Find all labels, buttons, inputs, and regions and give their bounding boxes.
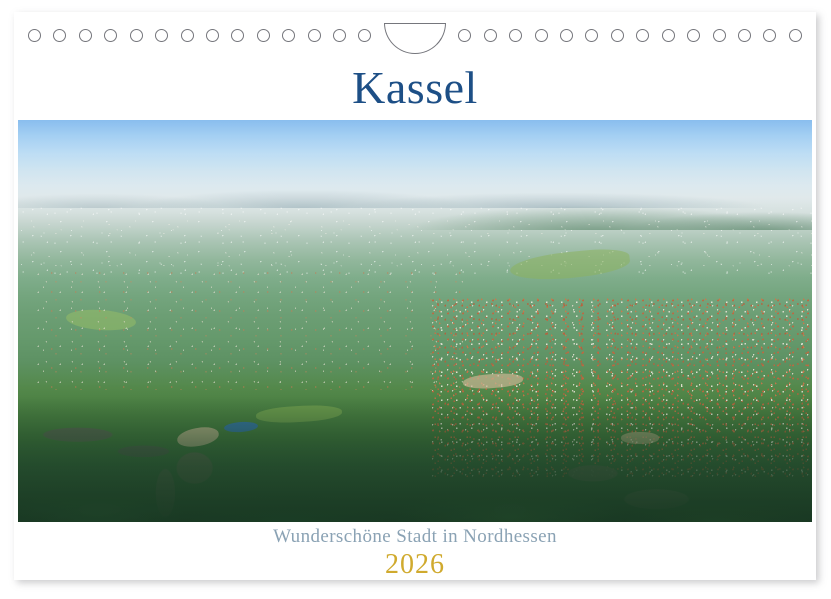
punch-hole-icon — [79, 29, 92, 42]
punch-hole-icon — [738, 29, 751, 42]
punch-hole-icon — [509, 29, 522, 42]
punch-hole-icon — [181, 29, 194, 42]
punch-hole-icon — [308, 29, 321, 42]
punch-hole-icon — [155, 29, 168, 42]
punch-hole-row — [14, 12, 816, 58]
cover-photo-image — [18, 120, 812, 522]
punch-hole-icon — [333, 29, 346, 42]
cover-photo — [18, 120, 812, 522]
punch-hole-icon — [257, 29, 270, 42]
calendar-cover-page: Kassel — [0, 0, 831, 599]
punch-hole-icon — [789, 29, 802, 42]
punch-hole-icon — [687, 29, 700, 42]
punch-hole-icon — [458, 29, 471, 42]
calendar-subtitle: Wunderschöne Stadt in Nordhessen — [273, 527, 557, 547]
punch-hole-icon — [763, 29, 776, 42]
punch-hole-icon — [53, 29, 66, 42]
punch-hole-icon — [206, 29, 219, 42]
punch-hole-icon — [611, 29, 624, 42]
calendar-card: Kassel — [14, 12, 816, 580]
punch-hole-icon — [28, 29, 41, 42]
punch-hole-icon — [104, 29, 117, 42]
calendar-title: Kassel — [352, 65, 478, 111]
caption-band: Wunderschöne Stadt in Nordhessen 2026 — [14, 522, 816, 580]
forest-belt — [18, 396, 812, 522]
punch-hole-icon — [662, 29, 675, 42]
hang-tab-semicircle-icon — [384, 23, 446, 54]
hazy-sprawl — [18, 206, 812, 276]
title-band: Kassel — [14, 58, 816, 118]
punch-hole-icon — [231, 29, 244, 42]
calendar-year: 2026 — [385, 550, 445, 579]
punch-hole-icon — [560, 29, 573, 42]
western-suburbs — [34, 270, 463, 390]
punch-hole-icon — [636, 29, 649, 42]
punch-hole-icon — [535, 29, 548, 42]
binding-strip — [14, 12, 816, 58]
punch-hole-icon — [585, 29, 598, 42]
punch-hole-icon — [282, 29, 295, 42]
punch-hole-icon — [130, 29, 143, 42]
punch-hole-icon — [713, 29, 726, 42]
punch-hole-icon — [358, 29, 371, 42]
punch-hole-icon — [484, 29, 497, 42]
